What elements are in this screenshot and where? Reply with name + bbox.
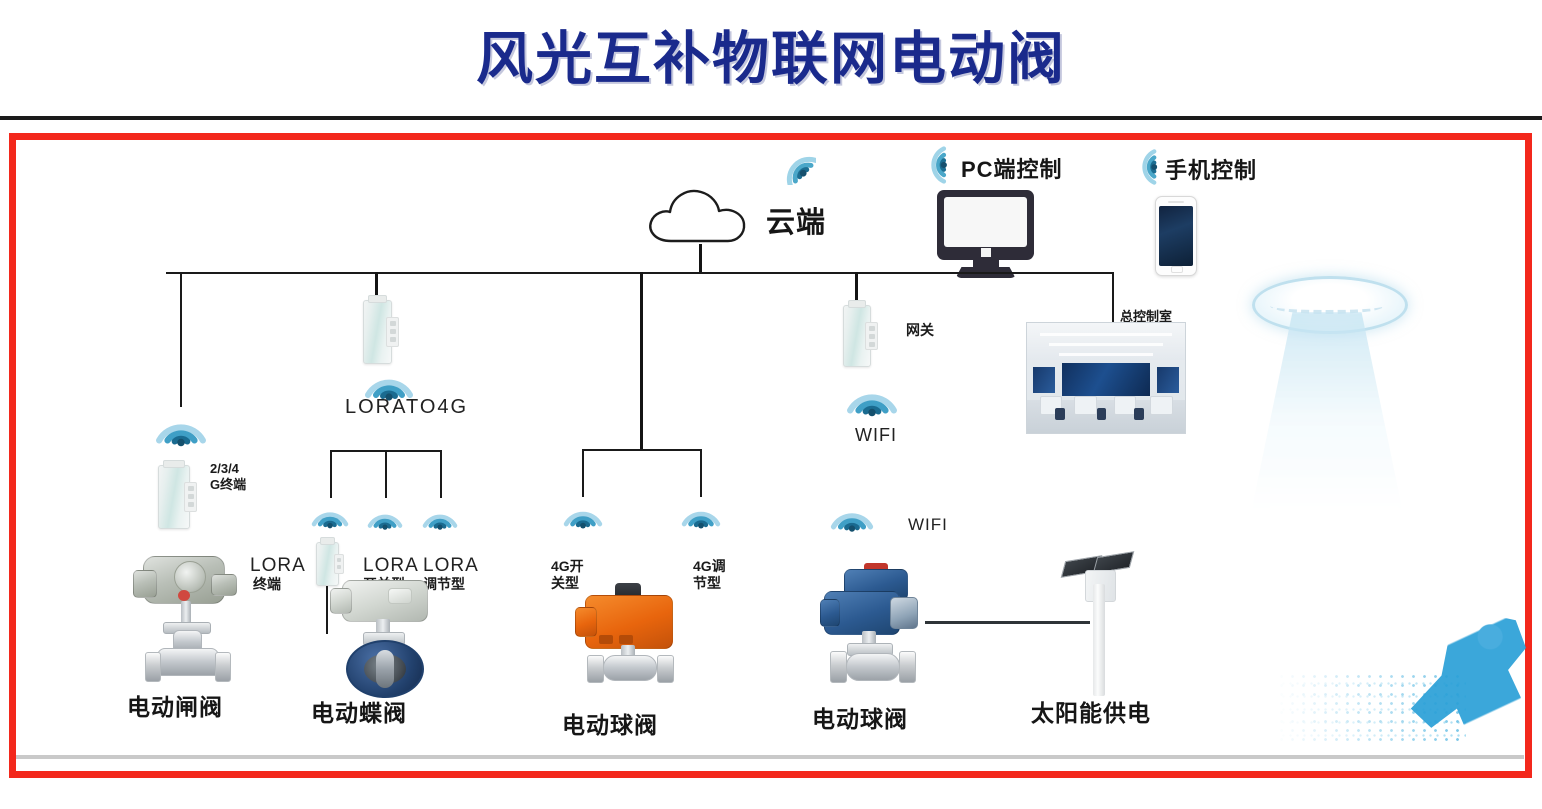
ball-valve-orange-label: 电动球阀 <box>562 712 658 738</box>
cellular-wifi-icon <box>155 412 207 448</box>
gateway-wifi-icon <box>846 382 898 418</box>
center-branch-trunk <box>640 272 643 449</box>
cellular-drop-line <box>180 272 182 407</box>
ball-valve-blue-label: 电动球阀 <box>812 706 908 732</box>
solar-power-label: 太阳能供电 <box>1031 700 1151 726</box>
g4-subbus-line <box>582 449 701 451</box>
light-beam-icon <box>1252 276 1402 516</box>
gateway-wifi-label: WIFI <box>855 425 897 446</box>
solar-power-wire <box>925 621 1090 624</box>
lora-terminal-wifi-icon <box>311 503 349 530</box>
cloud-label: 云端 <box>766 207 826 240</box>
cloud-drop-line <box>699 244 702 274</box>
g4-switch-wifi-icon <box>563 502 603 530</box>
smartphone-icon <box>1155 196 1197 276</box>
slide-stage: 风光互补物联网电动阀 云端 <box>0 0 1542 809</box>
lora-terminal-to-valve-line <box>326 586 328 634</box>
pc-control-label: PC端控制 <box>961 157 1063 182</box>
gate-valve-label: 电动闸阀 <box>127 694 223 720</box>
branch-wifi-icon <box>830 503 874 533</box>
ball-valve-orange-icon <box>575 583 681 693</box>
running-man-particles-icon <box>1276 600 1526 750</box>
gateway-terminal-icon <box>843 305 869 365</box>
lora-drop-3 <box>440 450 442 498</box>
lora4g-terminal-icon <box>363 300 390 362</box>
branch-wifi-label: WIFI <box>908 515 948 535</box>
ball-valve-blue-icon <box>820 563 924 691</box>
gateway-label: 网关 <box>906 322 934 338</box>
phone-control-label: 手机控制 <box>1165 158 1257 183</box>
cellular-terminal-label: 2/3/4 G终端 <box>210 461 246 493</box>
lora-switch-wifi-icon <box>367 506 403 531</box>
lora-switch-label-main: LORA <box>363 555 419 577</box>
lora-regulate-wifi-icon <box>422 506 458 531</box>
header-bar: 风光互补物联网电动阀 <box>0 0 1542 119</box>
butterfly-valve-icon <box>330 580 434 696</box>
lora-terminal-device-icon <box>316 542 337 584</box>
solar-pole-icon <box>1070 548 1128 700</box>
gate-valve-icon <box>133 556 241 684</box>
g4-regulate-wifi-icon <box>681 502 721 530</box>
lora-regulate-label-main: LORA <box>423 555 479 577</box>
cloud-icon <box>645 183 758 250</box>
control-room-drop-line <box>1112 272 1114 322</box>
desktop-monitor-icon <box>937 190 1034 278</box>
cloud-signal-icon <box>772 143 816 185</box>
cellular-terminal-icon <box>158 465 188 527</box>
frame-bottom-rule <box>16 755 1524 759</box>
g4-drop-1 <box>582 449 584 497</box>
butterfly-valve-label: 电动蝶阀 <box>311 700 407 726</box>
lora-terminal-label-sub: 终端 <box>253 576 281 592</box>
header-divider <box>0 116 1542 120</box>
page-title: 风光互补物联网电动阀 <box>0 24 1542 94</box>
g4-regulate-label: 4G调 节型 <box>693 558 726 592</box>
pc-signal-icon <box>912 145 952 185</box>
phone-signal-icon <box>1124 148 1162 186</box>
g4-drop-2 <box>700 449 702 497</box>
lora-drop-2 <box>385 450 387 498</box>
control-room-photo <box>1026 322 1186 434</box>
lora-drop-1 <box>330 450 332 498</box>
lora-terminal-label-main: LORA <box>250 555 306 577</box>
lora-to-4g-label: LORATO4G <box>345 396 468 419</box>
